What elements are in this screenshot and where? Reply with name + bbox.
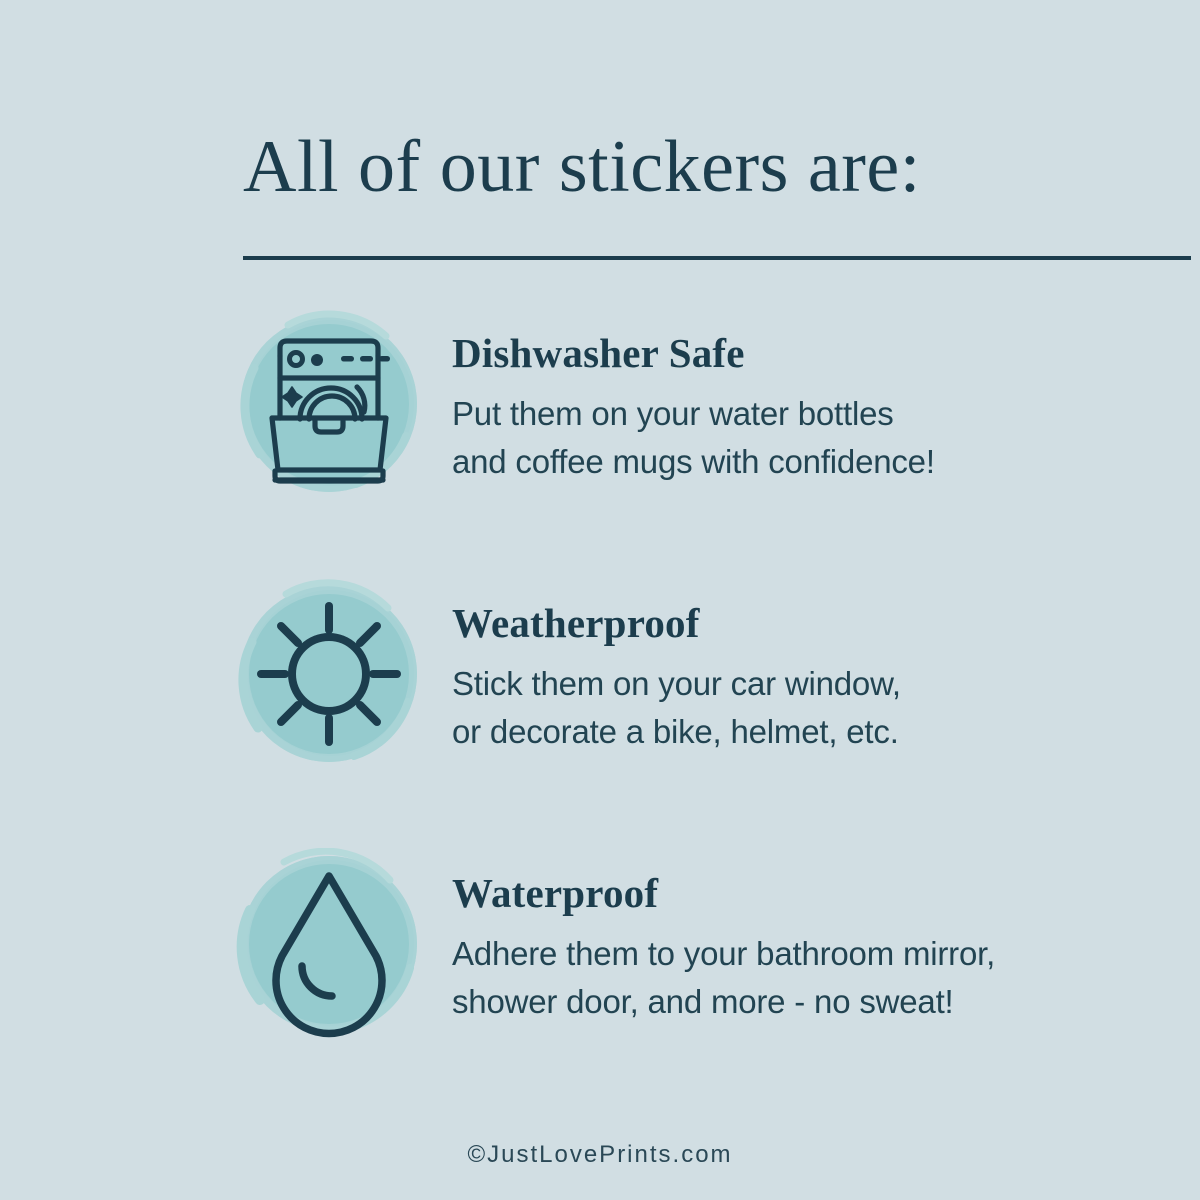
feature-title: Weatherproof [452, 600, 1172, 646]
feature-description-line: or decorate a bike, helmet, etc. [452, 708, 1172, 756]
feature-title: Dishwasher Safe [452, 330, 1172, 376]
water-drop-icon [236, 848, 422, 1040]
feature-description-line: Stick them on your car window, [452, 660, 1172, 708]
feature-text-weatherproof: Weatherproof Stick them on your car wind… [452, 600, 1172, 756]
feature-description-line: Adhere them to your bathroom mirror, [452, 930, 1172, 978]
feature-description-line: Put them on your water bottles [452, 390, 1172, 438]
title-divider [243, 256, 1191, 260]
feature-description: Adhere them to your bathroom mirror, sho… [452, 916, 1172, 1026]
feature-text-dishwasher-safe: Dishwasher Safe Put them on your water b… [452, 330, 1172, 486]
feature-description-line: shower door, and more - no sweat! [452, 978, 1172, 1026]
feature-description: Put them on your water bottles and coffe… [452, 376, 1172, 486]
sticker-features-poster: All of our stickers are: [0, 0, 1200, 1200]
feature-text-waterproof: Waterproof Adhere them to your bathroom … [452, 870, 1172, 1026]
feature-row-waterproof: Waterproof Adhere them to your bathroom … [0, 848, 1200, 1048]
sun-icon [236, 578, 422, 770]
feature-description: Stick them on your car window, or decora… [452, 646, 1172, 756]
feature-row-weatherproof: Weatherproof Stick them on your car wind… [0, 578, 1200, 778]
feature-description-line: and coffee mugs with confidence! [452, 438, 1172, 486]
dishwasher-icon [236, 308, 422, 500]
feature-title: Waterproof [452, 870, 1172, 916]
feature-row-dishwasher-safe: Dishwasher Safe Put them on your water b… [0, 308, 1200, 508]
footer-credit: ©JustLovePrints.com [0, 1140, 1200, 1170]
page-title: All of our stickers are: [243, 124, 1193, 210]
